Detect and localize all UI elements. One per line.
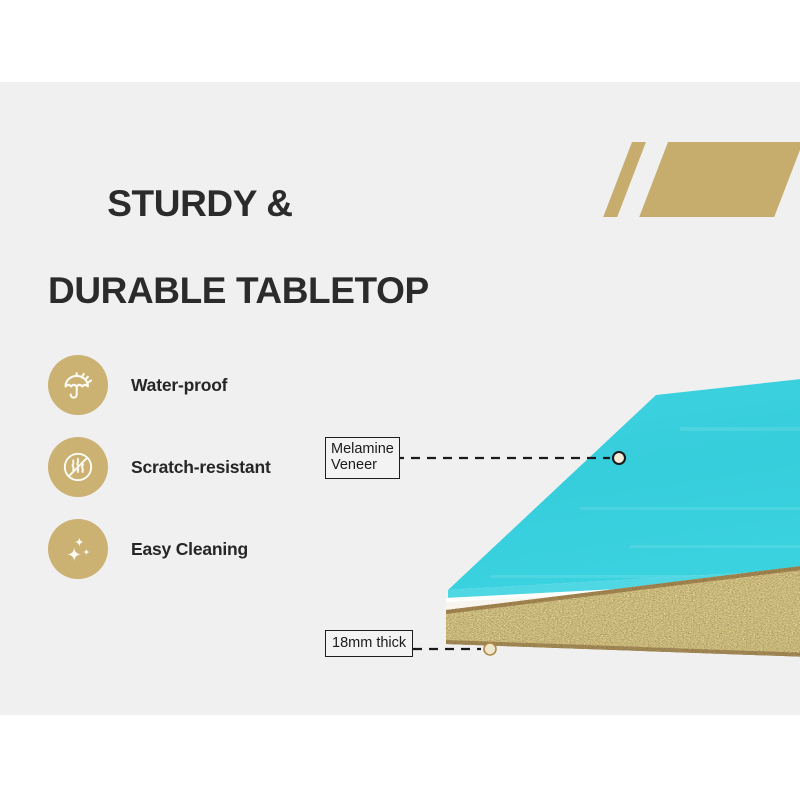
umbrella-icon bbox=[48, 355, 108, 415]
melamine-top-surface bbox=[448, 378, 800, 590]
title-line-1: STURDY & bbox=[107, 183, 292, 224]
gold-stripe-thin bbox=[603, 142, 646, 217]
tabletop-cross-section-illustration bbox=[430, 307, 800, 677]
callout-melamine-veneer: Melamine Veneer bbox=[325, 437, 400, 479]
feature-label: Water-proof bbox=[131, 375, 227, 396]
feature-label: Easy Cleaning bbox=[131, 539, 248, 560]
feature-item-scratch-resistant: Scratch-resistant bbox=[48, 426, 271, 508]
feature-item-easy-cleaning: Easy Cleaning bbox=[48, 508, 271, 590]
title-line-2: DURABLE TABLETOP bbox=[48, 269, 429, 312]
gold-stripes-decoration bbox=[610, 142, 800, 217]
feature-list: Water-proof Scratch-resistant bbox=[48, 344, 271, 590]
content-panel: STURDY & DURABLE TABLETOP bbox=[0, 82, 800, 715]
feature-label: Scratch-resistant bbox=[131, 457, 271, 478]
callout-18mm-thick: 18mm thick bbox=[325, 630, 413, 657]
feature-item-water-proof: Water-proof bbox=[48, 344, 271, 426]
no-scratch-icon bbox=[48, 437, 108, 497]
sparkle-icon bbox=[48, 519, 108, 579]
gold-stripe-wide bbox=[639, 142, 800, 217]
infographic-canvas: STURDY & DURABLE TABLETOP bbox=[0, 0, 800, 800]
